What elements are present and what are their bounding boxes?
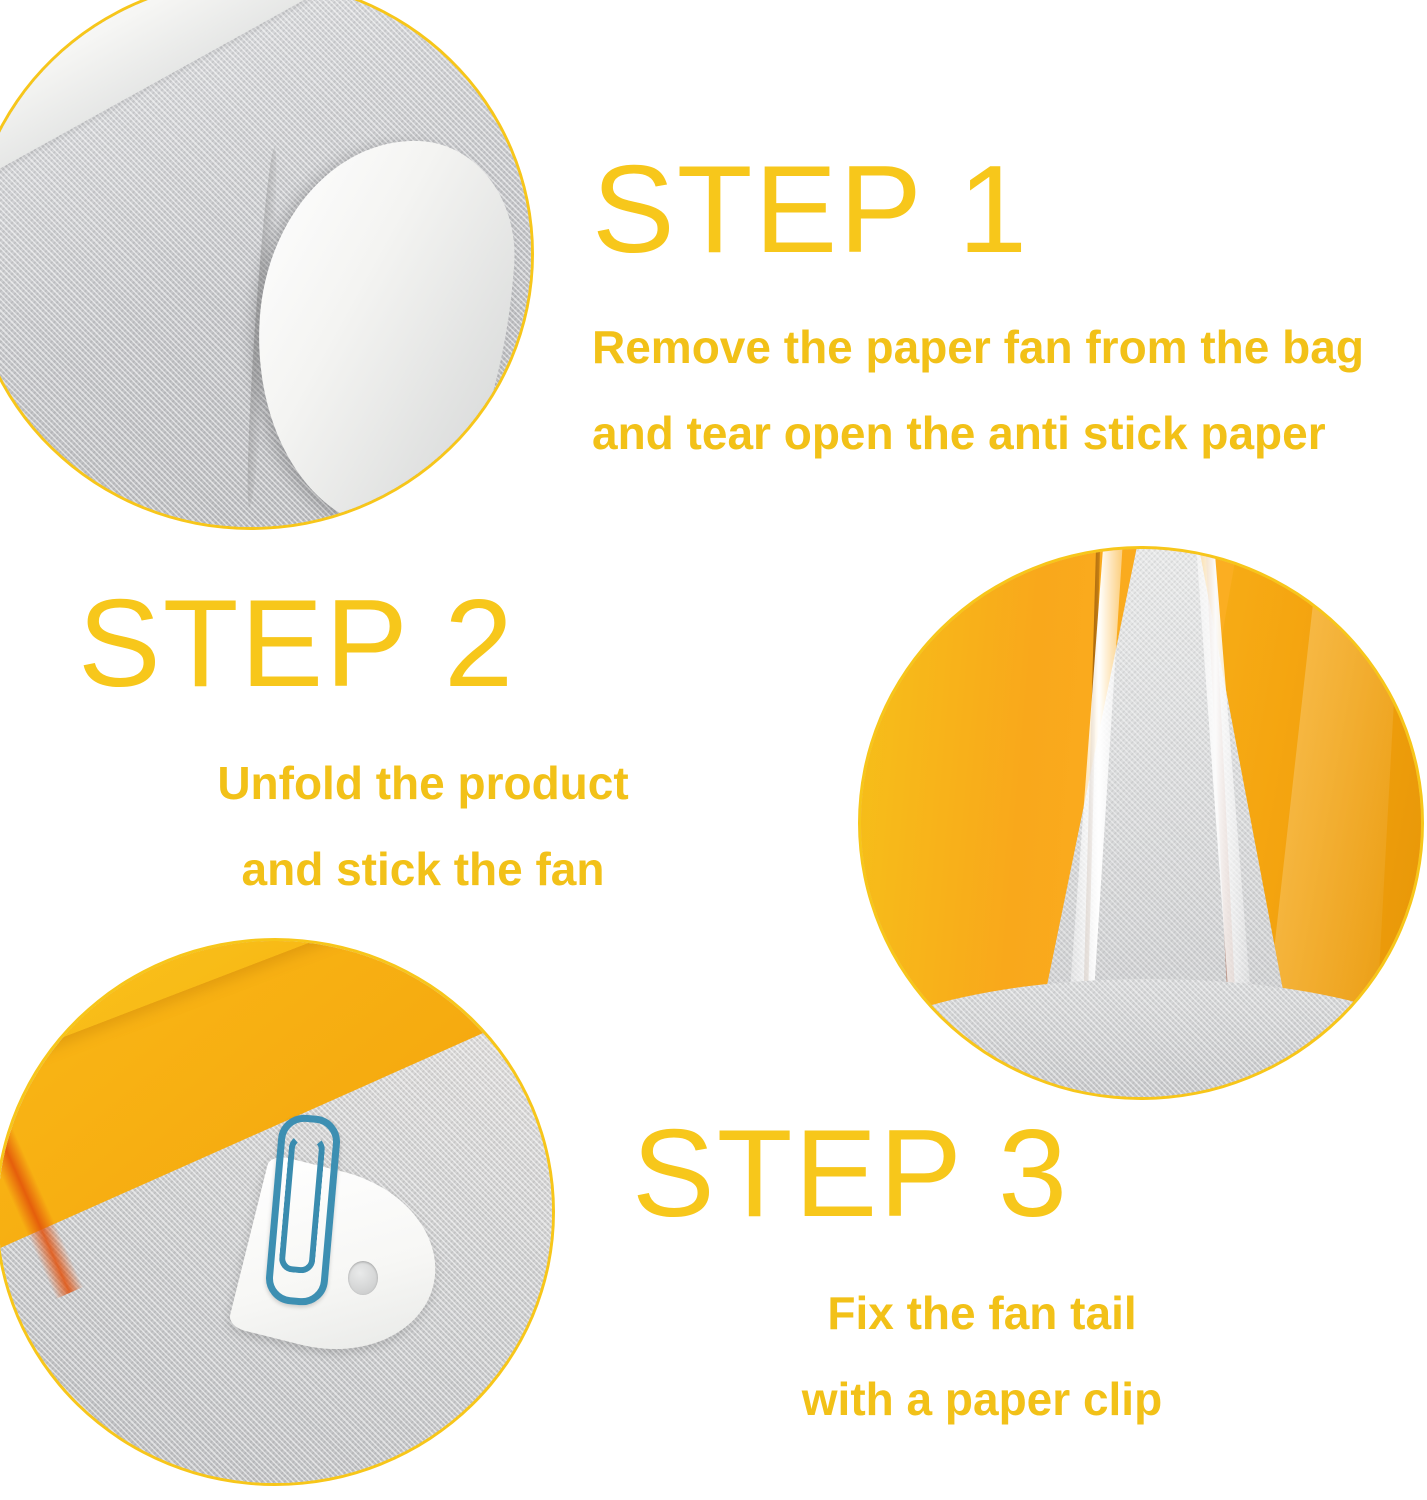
step-1-line-2: and tear open the anti stick paper: [592, 390, 1364, 476]
step-3-heading: STEP 3: [632, 1112, 1332, 1236]
step-3-line-1: Fix the fan tail: [632, 1270, 1332, 1356]
step-2-heading: STEP 2: [78, 582, 768, 706]
step-3-photo-inner: [0, 939, 554, 1485]
step-2-photo-circle: [858, 546, 1424, 1100]
step-3-line-2: with a paper clip: [632, 1356, 1332, 1442]
step-2-photo-inner: [859, 547, 1423, 1099]
step-1-line-1: Remove the paper fan from the bag: [592, 304, 1364, 390]
step-3-text-block: STEP 3 Fix the fan tail with a paper cli…: [632, 1112, 1332, 1443]
step-2-line-2: and stick the fan: [78, 826, 768, 912]
step-1-photo-circle: [0, 0, 534, 530]
step-1-text-block: STEP 1 Remove the paper fan from the bag…: [592, 148, 1364, 477]
step-2-line-1: Unfold the product: [78, 740, 768, 826]
step-3-photo-circle: [0, 938, 555, 1486]
step-3-description: Fix the fan tail with a paper clip: [632, 1270, 1332, 1443]
step-1-photo-inner: [0, 0, 533, 529]
step-1-description: Remove the paper fan from the bag and te…: [592, 304, 1364, 477]
step-2-description: Unfold the product and stick the fan: [78, 740, 768, 913]
step-1-heading: STEP 1: [592, 148, 1364, 272]
tab-hole: [348, 1261, 378, 1295]
step-2-text-block: STEP 2 Unfold the product and stick the …: [78, 582, 768, 913]
